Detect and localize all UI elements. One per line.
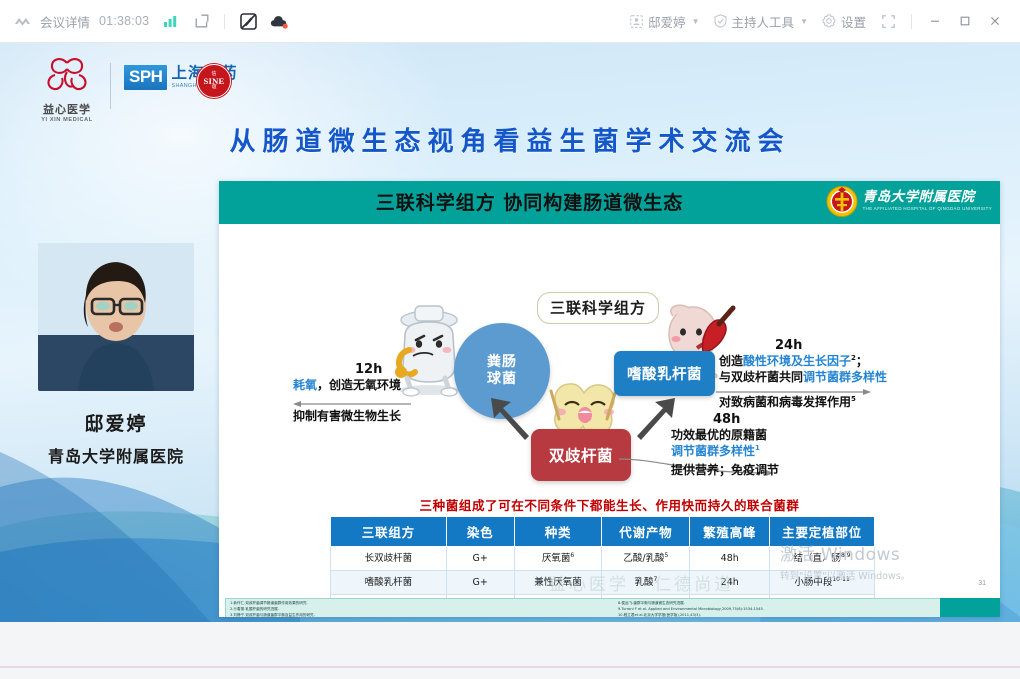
yixin-flower-icon: [43, 55, 91, 95]
hospital-name-cn: 青岛大学附属医院: [863, 191, 992, 205]
annotation-24h-line2: 与双歧杆菌共同调节菌群多样性: [719, 369, 887, 385]
sph-abbr: SPH: [124, 65, 167, 90]
node-enterococcus-line1: 粪肠: [487, 354, 517, 372]
table-header-row: 三联组方 染色 种类 代谢产物 繁殖高峰 主要定植部位: [331, 517, 875, 547]
th-stain: 染色: [446, 517, 514, 547]
node-lactobacillus: 嗜酸乳杆菌: [614, 351, 715, 396]
settings-menu[interactable]: 设置: [817, 8, 871, 35]
chevron-down-icon: ▼: [800, 17, 808, 26]
annotation-24h-line3-wrap: 对致病菌和病毒发挥作用5: [719, 394, 856, 410]
cell-site: 小肠中段10-11: [770, 571, 875, 595]
annotation-48h-line3-wrap: 提供营养；免疫调节: [671, 462, 779, 478]
meeting-timer: 01:38:03: [99, 14, 149, 28]
slide-number: 31: [978, 580, 986, 587]
shield-icon: [714, 14, 727, 28]
yixin-logo: 益心医学 YI XIN MEDICAL: [36, 55, 98, 123]
titlebar-divider: [224, 14, 225, 29]
cell-metabolite: 乙酸/乳酸5: [602, 547, 690, 571]
bottom-accent-line: [0, 666, 1020, 668]
shared-slide[interactable]: 三联科学组方 协同构建肠道微生态 青岛大学附属医院 THE AFFILIATED…: [219, 181, 1000, 617]
th-strain: 三联组方: [331, 517, 447, 547]
cell-metabolite: 乳酸7: [602, 571, 690, 595]
maximize-button[interactable]: [952, 8, 978, 34]
th-site: 主要定植部位: [770, 517, 875, 547]
hospital-logo: 青岛大学附属医院 THE AFFILIATED HOSPITAL OF QING…: [826, 185, 992, 218]
hospital-name-en: THE AFFILIATED HOSPITAL OF QINGDAO UNIVE…: [863, 207, 992, 211]
arrow-left-thin-icon: [293, 400, 411, 408]
hospital-crest-icon: [826, 185, 858, 218]
red-headline: 三种菌组成了可在不同条件下都能生长、作用快而持久的联合菌群: [219, 495, 1000, 514]
annotation-bifidobacterium: 48h 功效最优的原籍菌 调节菌群多样性1: [671, 412, 767, 459]
cell-peak: 48h: [690, 547, 770, 571]
th-metabolite: 代谢产物: [602, 517, 690, 547]
cell-stain: G+: [446, 547, 514, 571]
annotation-12h-time: 12h: [355, 362, 401, 377]
settings-label: 设置: [841, 12, 866, 31]
bottom-bar: [0, 622, 1020, 679]
participants-icon: [630, 15, 643, 28]
speaker-video-feed[interactable]: [38, 243, 194, 391]
annotation-48h-time: 48h: [713, 412, 767, 427]
meeting-details-label[interactable]: 会议详情: [40, 12, 90, 31]
annotation-24h-time: 24h: [775, 338, 887, 353]
cloud-record-icon[interactable]: [270, 14, 289, 29]
titlebar-left-group: 会议详情 01:38:03: [0, 12, 289, 31]
node-enterococcus-line2: 球菌: [487, 371, 517, 389]
gear-icon: [822, 14, 836, 28]
cell-type: 厌氧菌6: [514, 547, 602, 571]
footnotes-right: 8.侯运飞.菌群平衡与肠道微生态研究进展. 9.Turroni F et al.…: [618, 601, 948, 617]
arrow-to-enterococcus-icon: [485, 396, 533, 440]
annotation-48h-line1: 功效最优的原籍菌: [671, 427, 767, 443]
speaker-panel: 邸爱婷 青岛大学附属医院: [38, 243, 194, 467]
titlebar-divider-2: [911, 14, 912, 29]
share-external-icon[interactable]: [195, 14, 209, 28]
close-button[interactable]: [982, 8, 1008, 34]
speaker-portrait: [38, 243, 194, 391]
node-bifidobacterium: 双歧杆菌: [531, 429, 631, 481]
annotation-enterococcus: 12h 耗氧，创造无氧环境: [293, 362, 401, 393]
logo-divider: [110, 63, 111, 109]
participant-menu[interactable]: 邸爱婷 ▼: [625, 8, 704, 35]
table-row: 长双歧杆菌 G+ 厌氧菌6 乙酸/乳酸5 48h 结（直）肠8,9: [331, 547, 875, 571]
annotation-48h-line3: 提供营养；免疫调节: [671, 462, 779, 478]
annotation-24h-line1: 创造酸性环境及生长因子2；: [719, 353, 887, 369]
speaker-organization: 青岛大学附属医院: [38, 443, 194, 467]
slide-body: 三联科学组方 粪肠 球菌: [219, 224, 1000, 617]
annotation-24h-line3: 对致病菌和病毒发挥作用5: [719, 394, 856, 410]
annotation-lactobacillus: 24h 创造酸性环境及生长因子2； 与双歧杆菌共同调节菌群多样性: [719, 338, 887, 385]
slide-header: 三联科学组方 协同构建肠道微生态 青岛大学附属医院 THE AFFILIATED…: [219, 181, 1000, 224]
minimize-button[interactable]: [922, 8, 948, 34]
diagram-chip-title: 三联科学组方: [537, 292, 659, 324]
host-tools-label: 主持人工具: [732, 12, 795, 31]
annotation-12h-line1: 耗氧，创造无氧环境: [293, 377, 401, 393]
annotate-pen-icon[interactable]: [240, 13, 257, 30]
slide-footnotes: 1.俞作仁.双歧杆菌调节肠道菌群作用效果的研究. 2.沙春丽.乳酸杆菌的研究进展…: [225, 598, 995, 617]
sine-bottom: 谊: [211, 85, 216, 90]
chevron-down-icon: ▼: [692, 17, 700, 26]
footnote-teal-block: [940, 598, 1000, 617]
annotation-12h-line2-wrap: 抑制有害微生物生长: [293, 408, 401, 424]
cell-site: 结（直）肠8,9: [770, 547, 875, 571]
presentation-stage: 益心医学 YI XIN MEDICAL SPH 上海医药 SHANGHAI PH…: [0, 43, 1020, 622]
titlebar-right-group: 邸爱婷 ▼ 主持人工具 ▼ 设置: [625, 8, 1020, 35]
th-peak: 繁殖高峰: [690, 517, 770, 547]
th-type: 种类: [514, 517, 602, 547]
footnotes-left: 1.俞作仁.双歧杆菌调节肠道菌群作用效果的研究. 2.沙春丽.乳酸杆菌的研究进展…: [230, 601, 590, 617]
annotation-12h-line2: 抑制有害微生物生长: [293, 408, 401, 424]
sine-logo: 信 SINE 谊: [197, 64, 231, 98]
fullscreen-button[interactable]: [875, 8, 901, 34]
cell-strain: 长双歧杆菌: [331, 547, 447, 571]
app-titlebar: 会议详情 01:38:03: [0, 0, 1020, 43]
host-tools-menu[interactable]: 主持人工具 ▼: [709, 8, 813, 35]
conference-title: 从肠道微生态视角看益生菌学术交流会: [0, 121, 1020, 158]
cell-stain: G+: [446, 571, 514, 595]
yixin-name-cn: 益心医学: [36, 101, 98, 117]
participant-name: 邸爱婷: [648, 12, 686, 31]
speaker-name: 邸爱婷: [38, 409, 194, 436]
wavy-logo-icon: [14, 15, 31, 27]
cell-strain: 嗜酸乳杆菌: [331, 571, 447, 595]
cell-peak: 24h: [690, 571, 770, 595]
cell-type: 兼性厌氧菌: [514, 571, 602, 595]
table-row: 嗜酸乳杆菌 G+ 兼性厌氧菌 乳酸7 24h 小肠中段10-11: [331, 571, 875, 595]
signal-bars-icon[interactable]: [164, 15, 178, 27]
